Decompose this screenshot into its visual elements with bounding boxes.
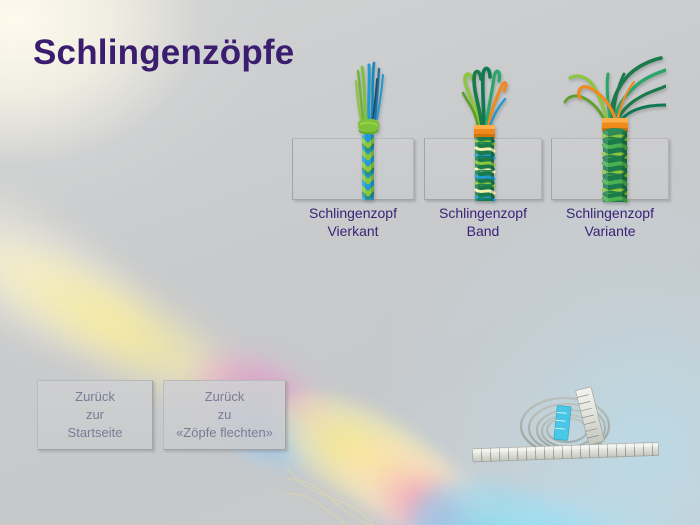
thumb-caption-variante: Schlingenzopf Variante: [542, 204, 678, 240]
caption-line-2: Variante: [542, 222, 678, 240]
caption-line-1: Schlingenzopf: [542, 204, 678, 222]
back-to-start-button[interactable]: Zurück zur Startseite: [37, 380, 153, 450]
caption-line-2: Vierkant: [285, 222, 421, 240]
button-line-3: Startseite: [68, 424, 123, 442]
caption-line-2: Band: [415, 222, 551, 240]
caption-line-1: Schlingenzopf: [285, 204, 421, 222]
braid-image-variante[interactable]: [556, 50, 666, 205]
button-line-1: Zurück: [176, 388, 273, 406]
caption-line-1: Schlingenzopf: [415, 204, 551, 222]
braid-image-band[interactable]: [458, 57, 510, 205]
button-line-1: Zurück: [68, 388, 123, 406]
thumb-caption-vierkant: Schlingenzopf Vierkant: [285, 204, 421, 240]
back-to-zoepfe-flechten-button[interactable]: Zurück zu «Zöpfe flechten»: [163, 380, 286, 450]
thumbnail-group: Schlingenzopf Vierkant: [0, 0, 700, 260]
button-line-3: «Zöpfe flechten»: [176, 424, 273, 442]
button-line-2: zu: [176, 406, 273, 424]
braid-image-vierkant[interactable]: [349, 57, 387, 205]
button-line-2: zur: [68, 406, 123, 424]
presentation-slide: Schlingenzöpfe: [0, 0, 700, 525]
thumb-caption-band: Schlingenzopf Band: [415, 204, 551, 240]
